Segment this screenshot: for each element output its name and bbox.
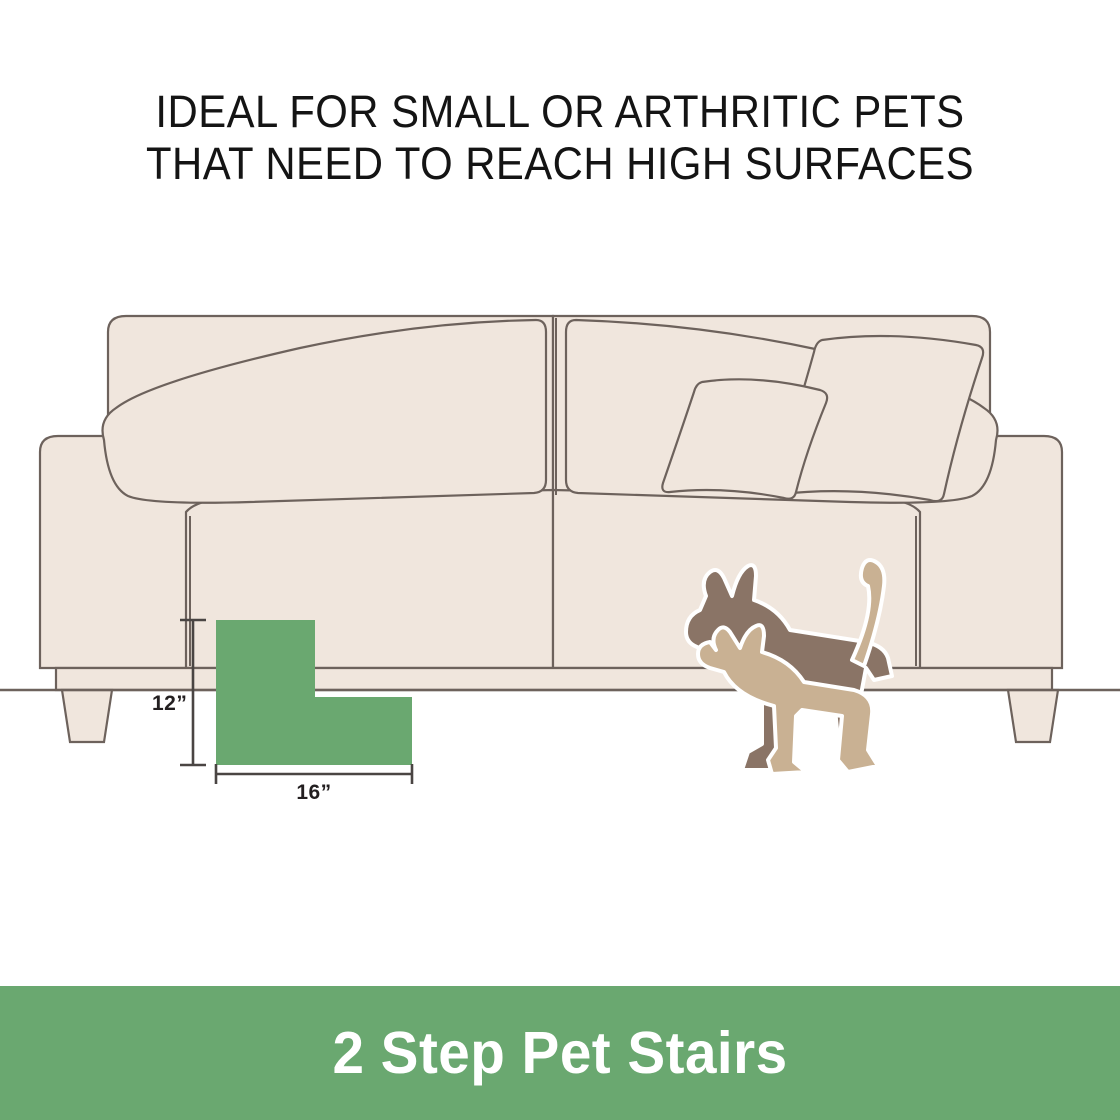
infographic-page: IDEAL FOR SMALL OR ARTHRITIC PETS THAT N… xyxy=(0,0,1120,1120)
sofa-base-rail xyxy=(56,668,1052,690)
product-title: 2 Step Pet Stairs xyxy=(332,1024,787,1083)
sofa-leg-right xyxy=(1008,690,1058,742)
illustration-stage xyxy=(0,0,1120,986)
product-name-banner: 2 Step Pet Stairs xyxy=(0,986,1120,1120)
stairs-width-label: 16” xyxy=(216,781,412,805)
stairs-height-label: 12” xyxy=(152,692,187,716)
sofa-leg-left xyxy=(62,690,112,742)
